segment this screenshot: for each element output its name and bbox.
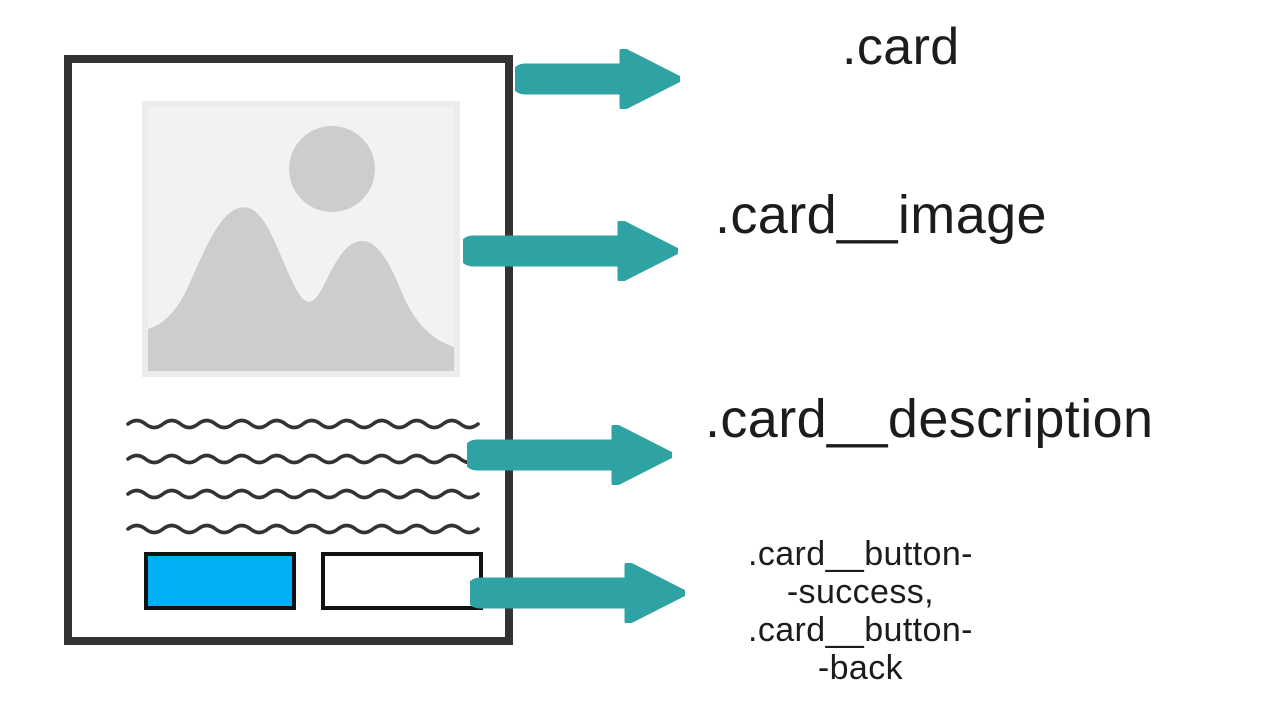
image-placeholder-icon [148,107,454,371]
arrow-to-card-description-icon [467,425,672,485]
card-image [142,101,460,377]
annotation-label-card: .card [842,18,960,76]
annotation-label-card-description: .card__description [705,389,1153,449]
arrow-to-card-buttons-icon [470,563,685,623]
card-button-back[interactable] [321,552,483,610]
card-button-success[interactable] [144,552,296,610]
arrow-to-card-icon [515,49,680,109]
arrow-to-card-image-icon [463,221,678,281]
annotation-label-card-image: .card__image [715,185,1047,245]
card-root [64,55,513,645]
card-buttons [136,552,496,614]
annotation-label-card-buttons: .card__button--success, .card__button--b… [748,535,973,687]
diagram-canvas: .card .card__image .card__description .c… [0,0,1280,720]
description-wavy-lines-icon [126,414,488,544]
card-description [126,414,488,544]
